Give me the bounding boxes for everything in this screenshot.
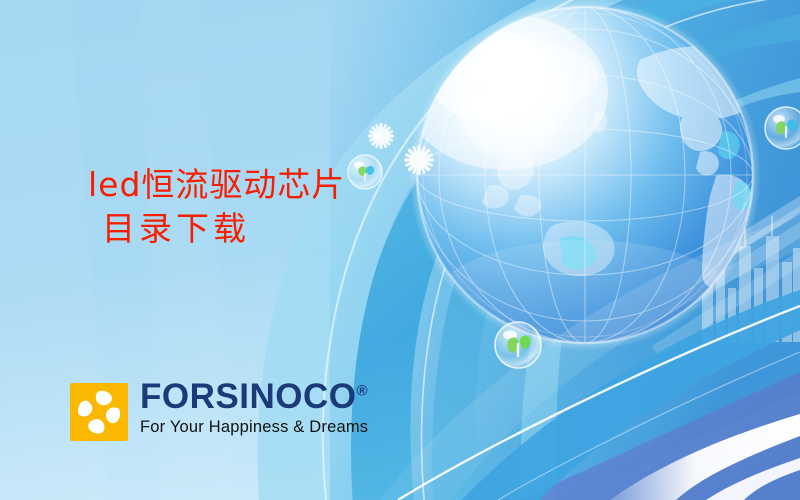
company-logo[interactable]: FORSINOCO® For Your Happiness & Dreams: [70, 383, 368, 441]
promo-banner: led恒流驱动芯片 目录下载 FORSINOCO® For Your Happi…: [0, 0, 800, 500]
logo-tagline: For Your Happiness & Dreams: [140, 419, 368, 436]
sparkle-star-upper: [368, 123, 394, 149]
bubble-leaf-left: [348, 155, 382, 189]
headline-line-2: 目录下载: [88, 207, 345, 251]
registered-trademark-icon: ®: [356, 382, 367, 399]
headline-text-block: led恒流驱动芯片 目录下载: [88, 163, 345, 250]
bubble-leaf-lower: [495, 322, 541, 368]
logo-text-block: FORSINOCO® For Your Happiness & Dreams: [140, 379, 368, 436]
logo-wordmark-text: FORSINOCO: [140, 377, 356, 416]
sparkle-star-lower: [404, 145, 434, 175]
headline-line-1: led恒流驱动芯片: [88, 163, 345, 207]
bubble-leaf-right: [765, 107, 800, 149]
forsinoco-pinwheel-mark: [70, 383, 128, 441]
logo-wordmark: FORSINOCO®: [140, 379, 368, 414]
